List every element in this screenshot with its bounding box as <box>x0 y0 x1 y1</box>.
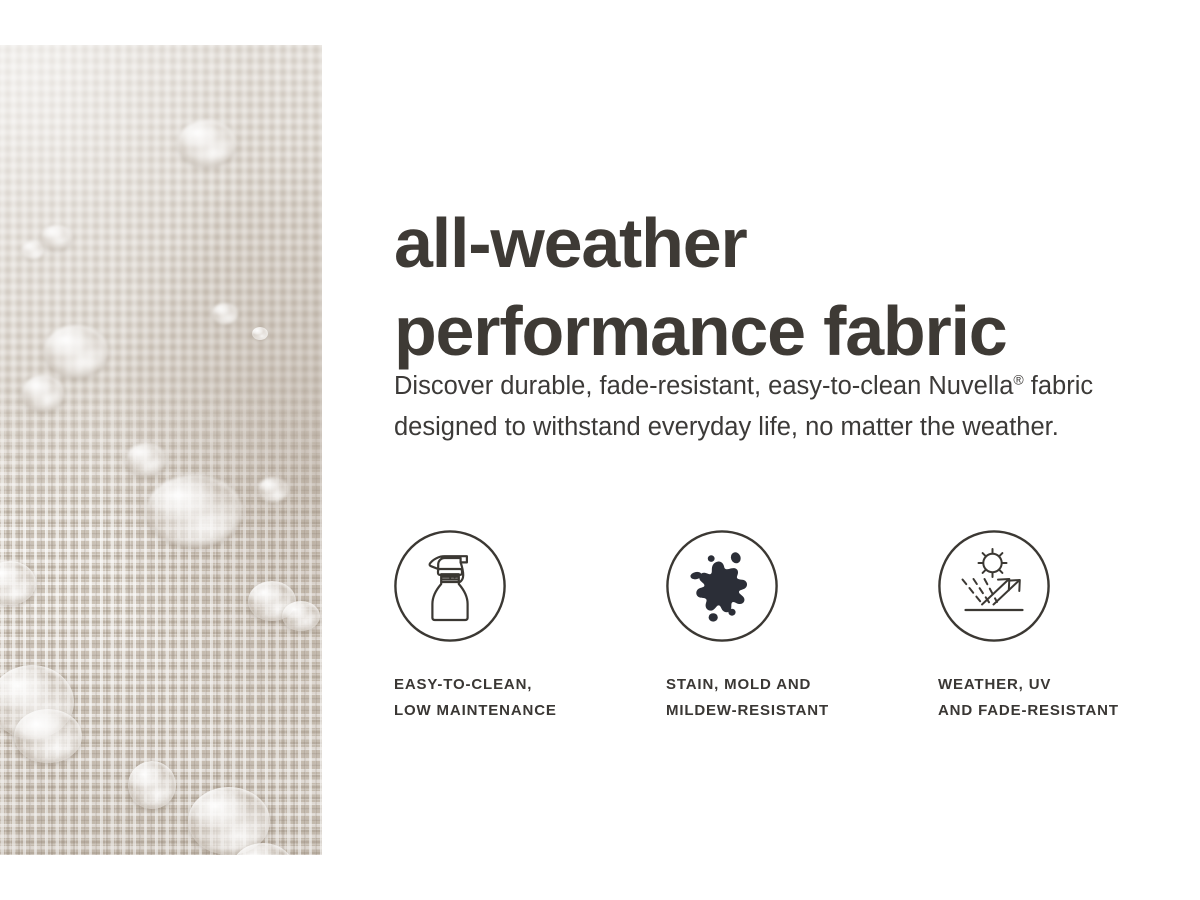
water-droplet <box>212 303 238 324</box>
registered-trademark-symbol: ® <box>1013 371 1023 387</box>
water-droplet <box>178 120 236 166</box>
water-droplet <box>22 241 44 259</box>
feature-item-easy-to-clean: EASY-TO-CLEAN, LOW MAINTENANCE <box>394 530 644 724</box>
promo-content: all-weather performance fabric Discover … <box>394 0 1200 900</box>
water-droplet <box>44 325 108 377</box>
water-droplet <box>146 475 242 547</box>
sun-uv-reflect-icon <box>938 530 1050 642</box>
water-droplet <box>14 709 82 763</box>
feature-item-stain-resistant: STAIN, MOLD AND MILDEW-RESISTANT <box>666 530 916 724</box>
water-droplet <box>128 761 176 809</box>
spray-bottle-icon <box>394 530 506 642</box>
subcopy: Discover durable, fade-resistant, easy-t… <box>394 366 1134 448</box>
feature-caption: STAIN, MOLD AND MILDEW-RESISTANT <box>666 672 916 724</box>
fabric-water-droplets-photo <box>0 45 322 855</box>
water-droplet <box>252 327 268 340</box>
water-droplet <box>282 601 320 631</box>
feature-caption: EASY-TO-CLEAN, LOW MAINTENANCE <box>394 672 644 724</box>
water-droplet <box>258 477 288 502</box>
page-title: all-weather performance fabric <box>394 199 1184 375</box>
stain-splat-icon <box>666 530 778 642</box>
promo-banner: all-weather performance fabric Discover … <box>0 0 1200 900</box>
water-droplet <box>126 443 166 476</box>
water-droplet <box>42 225 72 249</box>
subcopy-part-1: Discover durable, fade-resistant, easy-t… <box>394 372 1013 400</box>
feature-item-weather-uv-resistant: WEATHER, UV AND FADE-RESISTANT <box>938 530 1188 724</box>
water-droplet <box>22 375 64 411</box>
feature-caption: WEATHER, UV AND FADE-RESISTANT <box>938 672 1188 724</box>
